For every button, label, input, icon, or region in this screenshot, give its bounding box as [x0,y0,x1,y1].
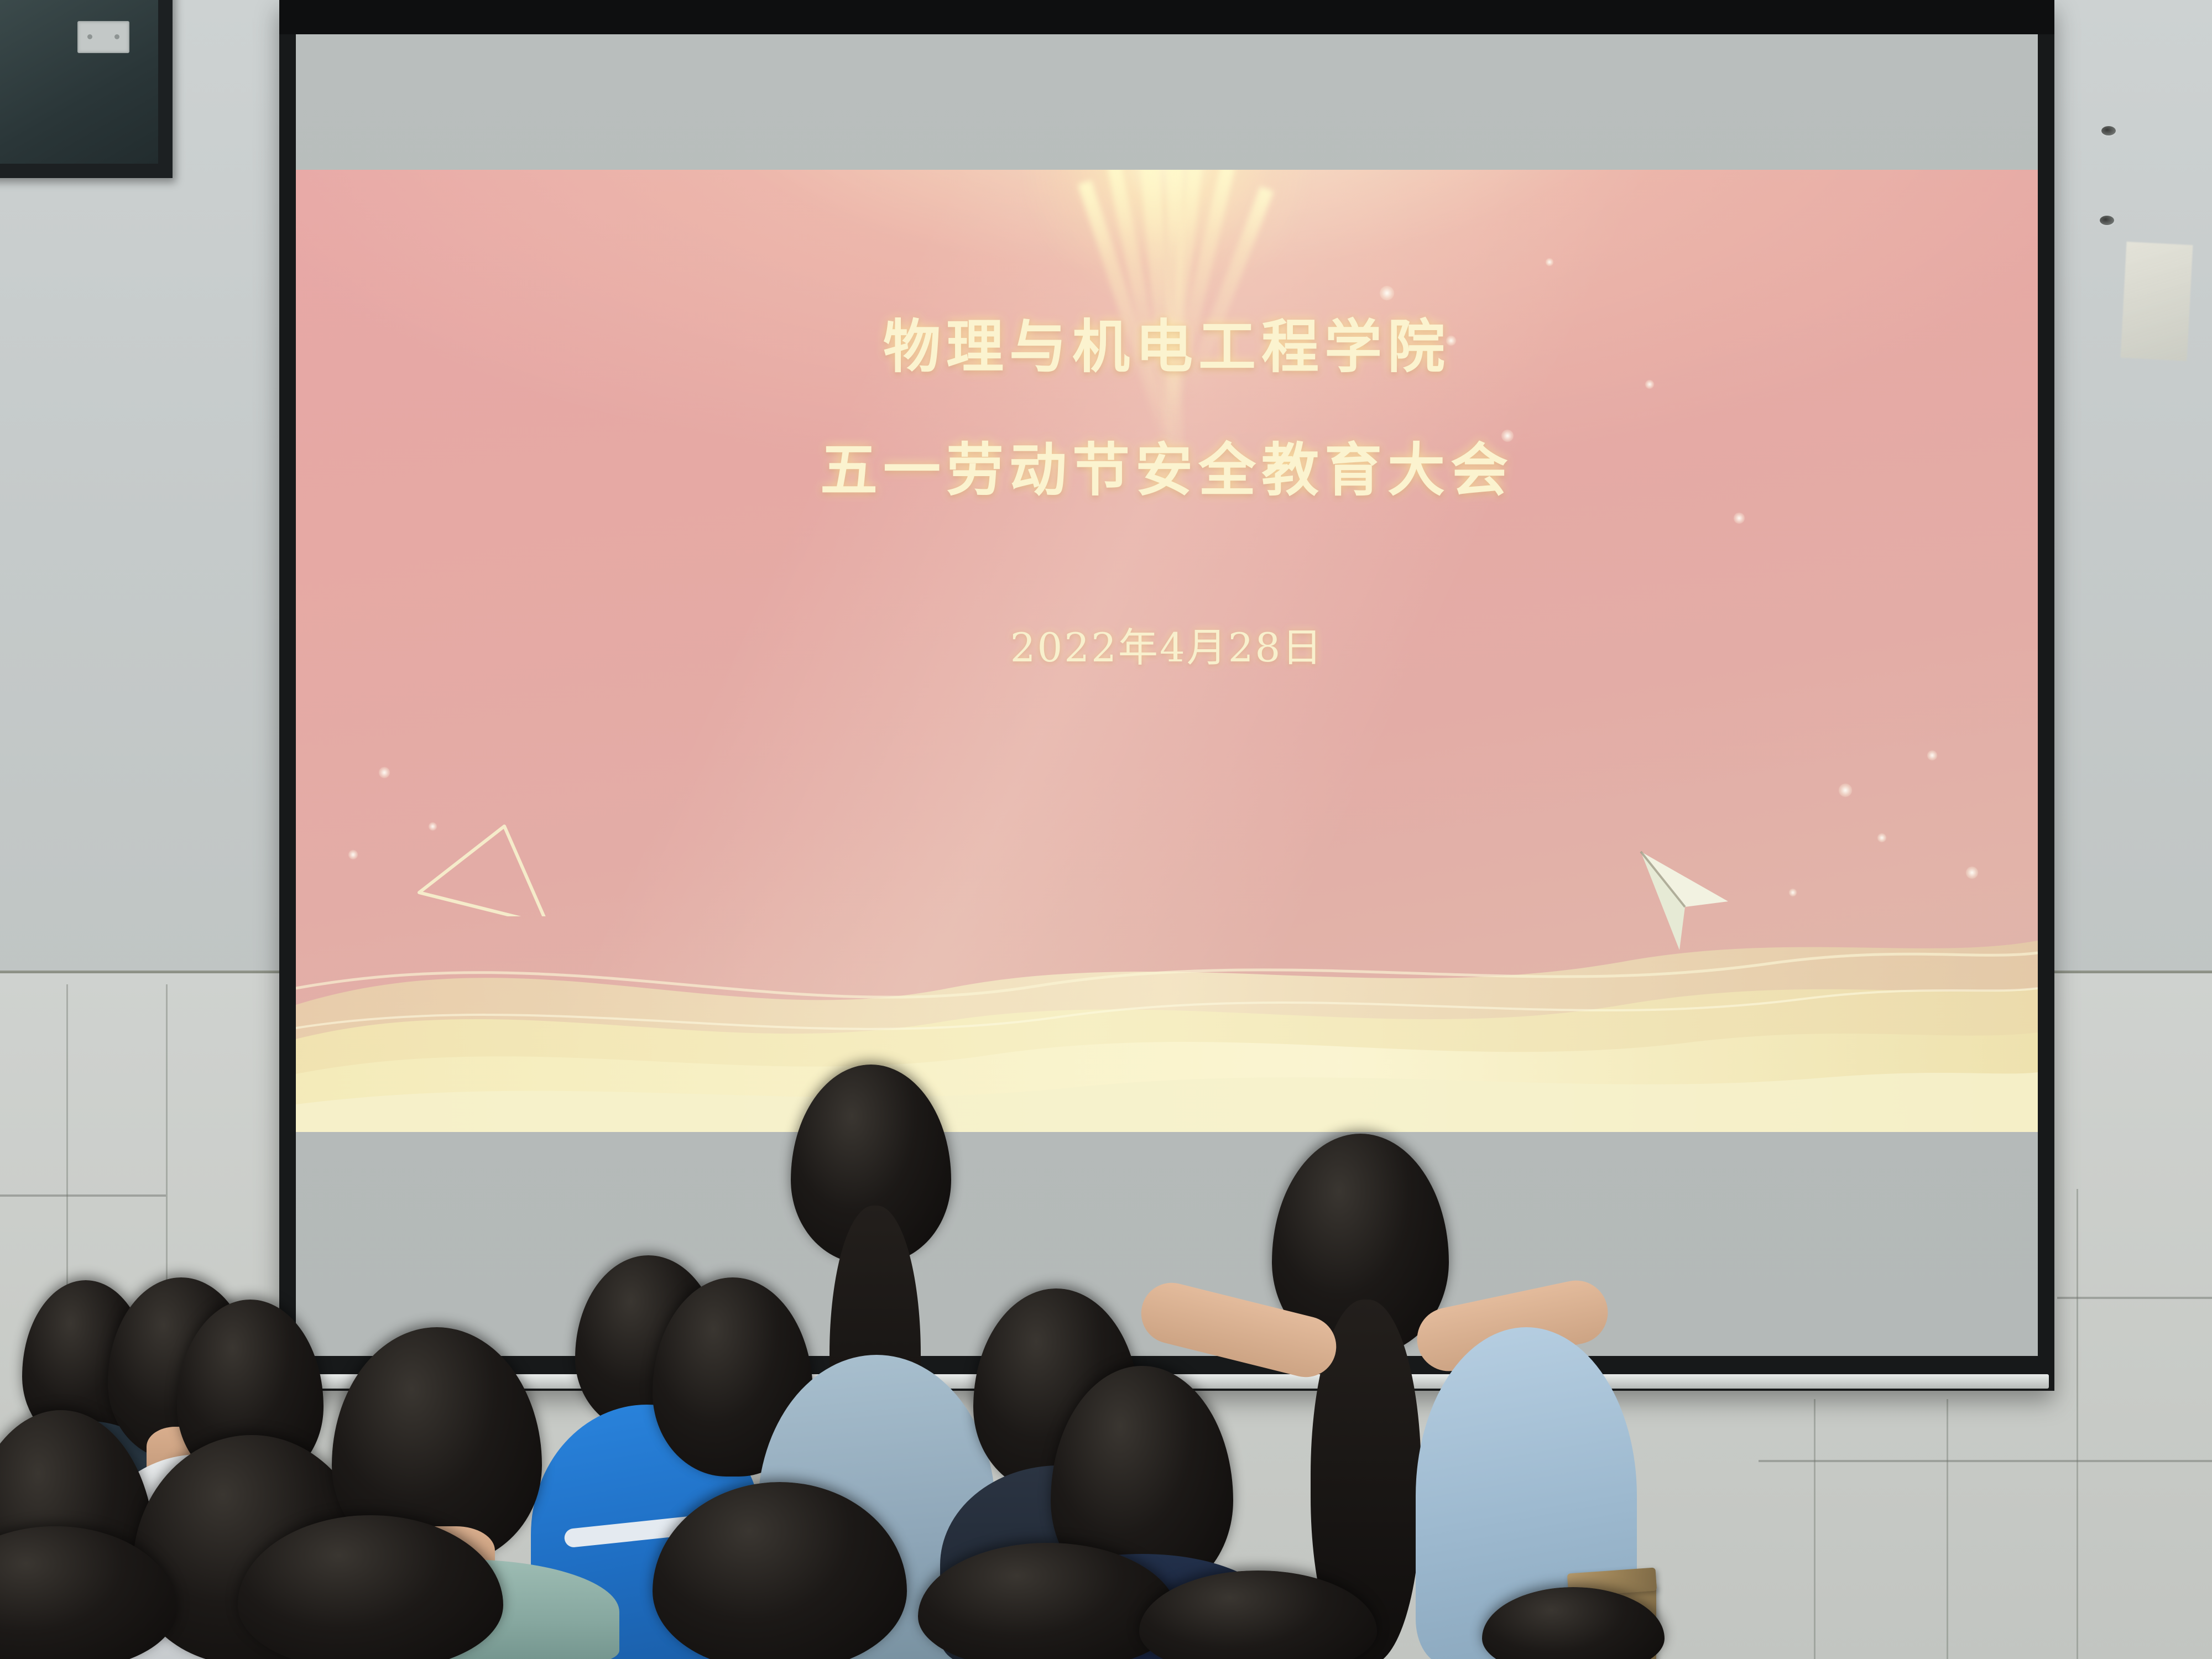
sparkle-icon [1645,380,1654,389]
wall-tape-patch [2121,242,2193,361]
classroom-photo-scene: 物理与机电工程学院 五一劳动节安全教育大会 2022年4月28日 [0,0,2212,1659]
wall-socket-icon [77,21,129,53]
sparkle-icon [1734,513,1745,524]
wall-hole-icon [2100,216,2114,225]
sparkle-icon [1380,286,1394,300]
sparkle-icon [1927,750,1937,760]
sparkle-icon [379,767,390,778]
sparkle-icon [1546,258,1553,266]
slide-date: 2022年4月28日 [1010,615,1324,673]
sparkle-icon [1446,336,1456,346]
audience-group [0,968,2212,1659]
wall-hole-icon [2101,126,2116,135]
sparkle-icon [1839,784,1852,797]
sparkle-icon [1501,430,1514,442]
screen-top-bar [279,0,2054,34]
